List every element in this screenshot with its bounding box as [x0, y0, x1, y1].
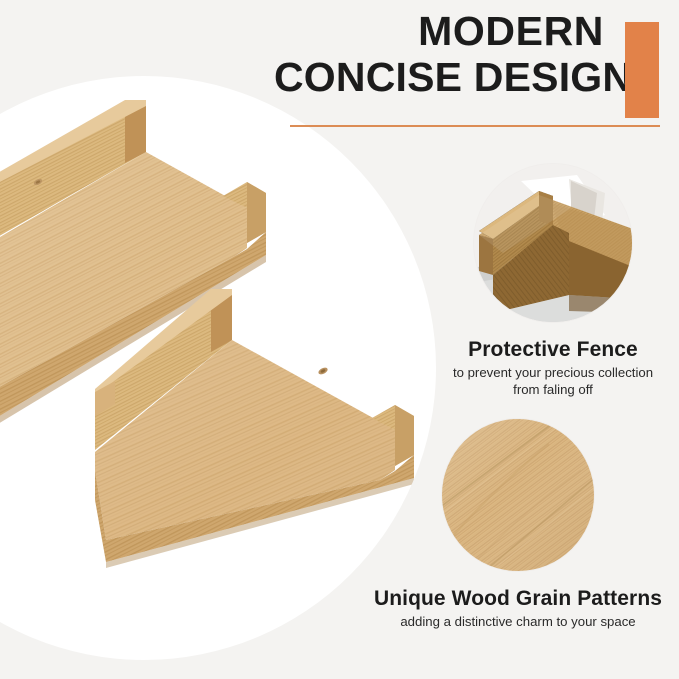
feature-title: Unique Wood Grain Patterns	[330, 586, 679, 611]
feature-protective-fence: Protective Fence to prevent your preciou…	[400, 163, 679, 398]
feature-title: Protective Fence	[400, 337, 679, 362]
product-feature-banner: MODERN CONCISE DESIGN	[0, 0, 679, 679]
feature-subtitle: to prevent your precious collection from…	[400, 365, 679, 398]
title-line-1: MODERN	[274, 8, 604, 54]
orange-divider-rule	[290, 125, 660, 127]
orange-accent-bar	[625, 22, 659, 118]
feature-wood-grain: Unique Wood Grain Patterns adding a dist…	[330, 418, 679, 631]
feature-subtitle-line-1: adding a distinctive charm to your space	[400, 614, 635, 629]
page-title: MODERN CONCISE DESIGN	[274, 8, 604, 100]
title-line-2: CONCISE DESIGN	[274, 54, 604, 100]
feature-subtitle-line-1: to prevent your precious collection	[453, 365, 653, 380]
diagonal-wood-grain-closeup-image	[441, 418, 595, 572]
shelf-corner-lip-closeup-image	[473, 163, 633, 323]
feature-subtitle: adding a distinctive charm to your space	[330, 614, 679, 631]
header: MODERN CONCISE DESIGN	[270, 8, 670, 130]
feature-subtitle-line-2: from faling off	[513, 382, 593, 397]
